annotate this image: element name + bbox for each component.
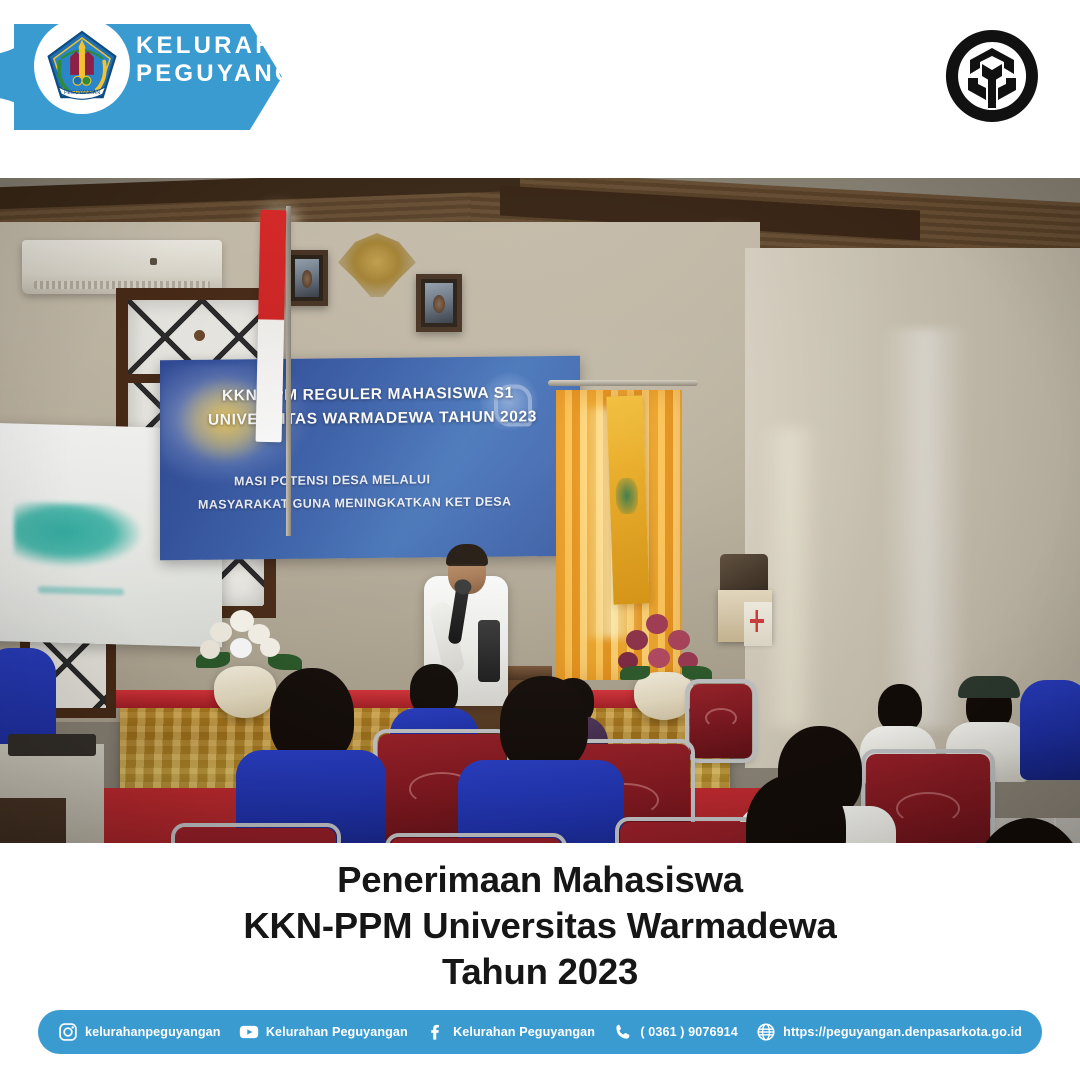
audience-member-blue: [236, 668, 386, 843]
audience-member-front: [966, 818, 1080, 843]
indonesian-flag: [256, 210, 287, 442]
logo-line-2: PEGUYANGAN: [136, 62, 338, 86]
footer-label-youtube: Kelurahan Peguyangan: [266, 1025, 408, 1039]
logo-line-1: KELURAHAN: [136, 34, 338, 58]
av-cabinet: [0, 798, 66, 843]
speaker-glasses: [450, 564, 484, 571]
youtube-icon[interactable]: [239, 1022, 259, 1042]
denpasar-circular-logo: [942, 26, 1042, 126]
framed-portrait: [416, 274, 462, 332]
air-conditioner: [22, 240, 222, 294]
footer-label-website: https://peguyangan.denpasarkota.go.id: [783, 1025, 1022, 1039]
footer-label-facebook: Kelurahan Peguyangan: [453, 1025, 595, 1039]
event-backdrop-banner: KKN PPM REGULER MAHASISWA S1 UNIVERSITAS…: [160, 356, 580, 560]
footer-item-youtube[interactable]: Kelurahan Peguyangan: [239, 1022, 408, 1042]
phone-icon[interactable]: [613, 1022, 633, 1042]
footer-label-instagram: kelurahanpeguyangan: [85, 1025, 221, 1039]
banner-subtitle-line-2: MASYARAKAT GUNA MENINGKATKAN KET DESA: [198, 495, 511, 512]
contact-footer-bar: kelurahanpeguyangan Kelurahan Peguyangan…: [38, 1010, 1042, 1054]
page-title: Penerimaan Mahasiswa KKN-PPM Universitas…: [0, 852, 1080, 1000]
flag-pole: [286, 206, 291, 536]
audience-member: [1020, 660, 1080, 780]
globe-icon[interactable]: [756, 1022, 776, 1042]
framed-portrait: [286, 250, 328, 306]
instagram-icon[interactable]: [58, 1022, 78, 1042]
projected-image-blob: [14, 501, 142, 569]
av-equipment: [8, 734, 96, 756]
event-photo: KKN PPM REGULER MAHASISWA S1 UNIVERSITAS…: [0, 178, 1080, 843]
title-line-3: Tahun 2023: [442, 949, 638, 995]
curtain-rod: [548, 380, 698, 386]
wall-light-sheen: [880, 328, 970, 728]
emblem-svg: PEGUYANGAN: [45, 29, 119, 103]
yellow-flag: [606, 395, 649, 604]
banquet-chair: [176, 828, 336, 843]
svg-text:PEGUYANGAN: PEGUYANGAN: [64, 90, 100, 96]
banquet-chair: [390, 838, 562, 843]
header-logo-text: KELURAHAN PEGUYANGAN: [136, 34, 338, 87]
podium-microphone: [478, 620, 500, 682]
facebook-icon[interactable]: [426, 1022, 446, 1042]
footer-item-instagram[interactable]: kelurahanpeguyangan: [58, 1022, 221, 1042]
footer-label-phone: ( 0361 ) 9076914: [640, 1025, 738, 1039]
title-line-2: KKN-PPM Universitas Warmadewa: [243, 903, 836, 949]
projected-text-line: [38, 586, 124, 595]
audience-member-white-front: [700, 774, 890, 843]
audience-member-blue: [458, 676, 624, 843]
kelurahan-peguyangan-emblem: PEGUYANGAN: [34, 18, 130, 114]
footer-item-facebook[interactable]: Kelurahan Peguyangan: [426, 1022, 595, 1042]
footer-item-phone[interactable]: ( 0361 ) 9076914: [613, 1022, 738, 1042]
banner-subtitle-line-1: MASI POTENSI DESA MELALUI: [234, 472, 430, 488]
title-line-1: Penerimaan Mahasiswa: [337, 857, 743, 903]
page-header: PEGUYANGAN KELURAHAN PEGUYANGAN: [0, 0, 1080, 178]
footer-item-website[interactable]: https://peguyangan.denpasarkota.go.id: [756, 1022, 1022, 1042]
